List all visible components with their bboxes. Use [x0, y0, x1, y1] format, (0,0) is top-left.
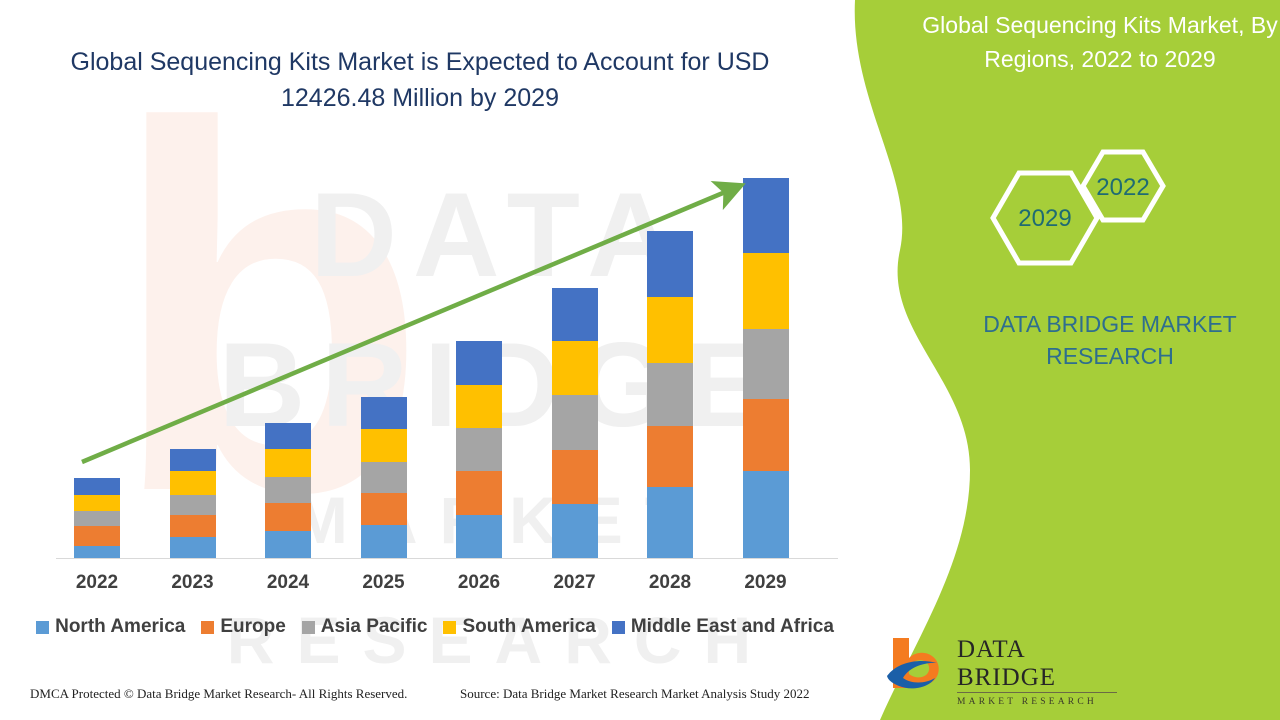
- panel-title: Global Sequencing Kits Market, By Region…: [890, 8, 1280, 76]
- legend-swatch-icon: [443, 621, 456, 634]
- bar-2029[interactable]: [743, 178, 789, 558]
- x-axis-label-2026: 2026: [449, 572, 509, 594]
- bar-2025[interactable]: [361, 397, 407, 558]
- bar-2023[interactable]: [170, 449, 216, 558]
- bar-segment[interactable]: [456, 515, 502, 558]
- bar-2028[interactable]: [647, 231, 693, 558]
- x-axis-label-2022: 2022: [67, 572, 127, 594]
- bar-2022[interactable]: [74, 478, 120, 558]
- footer-copyright: DMCA Protected © Data Bridge Market Rese…: [30, 686, 407, 702]
- bar-segment[interactable]: [265, 477, 311, 503]
- x-axis-label-2029: 2029: [736, 572, 796, 594]
- bar-segment[interactable]: [361, 462, 407, 493]
- bar-segment[interactable]: [456, 471, 502, 515]
- legend-swatch-icon: [302, 621, 315, 634]
- chart-x-axis: 20222023202420252026202720282029: [40, 572, 830, 600]
- brand-line2: RESEARCH: [960, 340, 1260, 372]
- bar-segment[interactable]: [170, 537, 216, 558]
- bar-segment[interactable]: [647, 426, 693, 486]
- bar-segment[interactable]: [743, 471, 789, 558]
- logo-wordmark: DATA BRIDGE MARKET RESEARCH: [957, 636, 1117, 709]
- bar-2027[interactable]: [552, 288, 598, 558]
- bar-segment[interactable]: [552, 288, 598, 341]
- logo-mark-icon: [885, 632, 951, 694]
- bar-segment[interactable]: [265, 531, 311, 558]
- legend-label: Asia Pacific: [321, 616, 428, 638]
- bar-segment[interactable]: [552, 341, 598, 395]
- legend-label: Middle East and Africa: [631, 616, 834, 638]
- x-axis-label-2028: 2028: [640, 572, 700, 594]
- bar-segment[interactable]: [647, 231, 693, 297]
- bar-segment[interactable]: [170, 495, 216, 515]
- footer-source: Source: Data Bridge Market Research Mark…: [460, 686, 809, 702]
- footer: DMCA Protected © Data Bridge Market Rese…: [0, 686, 840, 710]
- chart-bars: [40, 150, 830, 558]
- legend-label: North America: [55, 616, 185, 638]
- stacked-bar-chart: [40, 150, 830, 570]
- bar-segment[interactable]: [647, 363, 693, 426]
- panel-title-line2: Regions, 2022 to 2029: [890, 42, 1280, 76]
- panel-title-line1: Global Sequencing Kits Market, By: [890, 8, 1280, 42]
- logo-sub-text: MARKET RESEARCH: [957, 695, 1117, 709]
- bar-segment[interactable]: [170, 471, 216, 494]
- legend-item-north-america[interactable]: North America: [36, 616, 185, 638]
- x-axis-label-2025: 2025: [354, 572, 414, 594]
- legend-swatch-icon: [201, 621, 214, 634]
- bar-segment[interactable]: [456, 341, 502, 385]
- x-axis-label-2027: 2027: [545, 572, 605, 594]
- green-panel-content: Global Sequencing Kits Market, By Region…: [820, 0, 1280, 720]
- bar-segment[interactable]: [743, 253, 789, 328]
- chart-legend: North AmericaEuropeAsia PacificSouth Ame…: [40, 614, 830, 640]
- bar-segment[interactable]: [265, 423, 311, 449]
- bar-segment[interactable]: [552, 450, 598, 504]
- bar-segment[interactable]: [647, 487, 693, 558]
- bar-segment[interactable]: [74, 526, 120, 545]
- bar-segment[interactable]: [74, 495, 120, 511]
- infographic-canvas: b DATA BRIDGE MARKET RESEARCH Global Seq…: [0, 0, 1280, 720]
- green-side-panel: Global Sequencing Kits Market, By Region…: [820, 0, 1280, 720]
- legend-item-middle-east-and-africa[interactable]: Middle East and Africa: [612, 616, 834, 638]
- bar-segment[interactable]: [456, 385, 502, 429]
- bar-2026[interactable]: [456, 341, 502, 558]
- bar-segment[interactable]: [361, 493, 407, 526]
- chart-baseline: [56, 558, 838, 559]
- legend-label: South America: [462, 616, 595, 638]
- bar-segment[interactable]: [265, 449, 311, 478]
- bar-segment[interactable]: [361, 429, 407, 463]
- x-axis-label-2023: 2023: [163, 572, 223, 594]
- bar-segment[interactable]: [743, 178, 789, 253]
- data-bridge-logo: DATA BRIDGE MARKET RESEARCH: [885, 632, 1115, 694]
- brand-name: DATA BRIDGE MARKET RESEARCH: [960, 308, 1260, 372]
- x-axis-label-2024: 2024: [258, 572, 318, 594]
- bar-segment[interactable]: [647, 297, 693, 363]
- bar-segment[interactable]: [74, 546, 120, 558]
- legend-label: Europe: [220, 616, 285, 638]
- bar-segment[interactable]: [170, 449, 216, 471]
- hexagon-badges: 2029 2022: [975, 140, 1205, 295]
- bar-segment[interactable]: [74, 478, 120, 494]
- bar-segment[interactable]: [265, 503, 311, 532]
- bar-segment[interactable]: [552, 395, 598, 450]
- logo-main-text: DATA BRIDGE: [957, 636, 1117, 693]
- hexagon-2029-label: 2029: [1018, 205, 1071, 232]
- bar-segment[interactable]: [456, 428, 502, 471]
- bar-segment[interactable]: [361, 397, 407, 429]
- legend-swatch-icon: [612, 621, 625, 634]
- hexagon-2022-label: 2022: [1096, 174, 1149, 201]
- bar-segment[interactable]: [552, 504, 598, 558]
- page-title: Global Sequencing Kits Market is Expecte…: [60, 44, 780, 116]
- legend-item-asia-pacific[interactable]: Asia Pacific: [302, 616, 428, 638]
- bar-segment[interactable]: [170, 515, 216, 536]
- bar-2024[interactable]: [265, 423, 311, 558]
- legend-item-europe[interactable]: Europe: [201, 616, 285, 638]
- legend-item-south-america[interactable]: South America: [443, 616, 595, 638]
- bar-segment[interactable]: [743, 399, 789, 471]
- bar-segment[interactable]: [361, 525, 407, 558]
- brand-line1: DATA BRIDGE MARKET: [960, 308, 1260, 340]
- bar-segment[interactable]: [743, 329, 789, 399]
- bar-segment[interactable]: [74, 511, 120, 526]
- legend-swatch-icon: [36, 621, 49, 634]
